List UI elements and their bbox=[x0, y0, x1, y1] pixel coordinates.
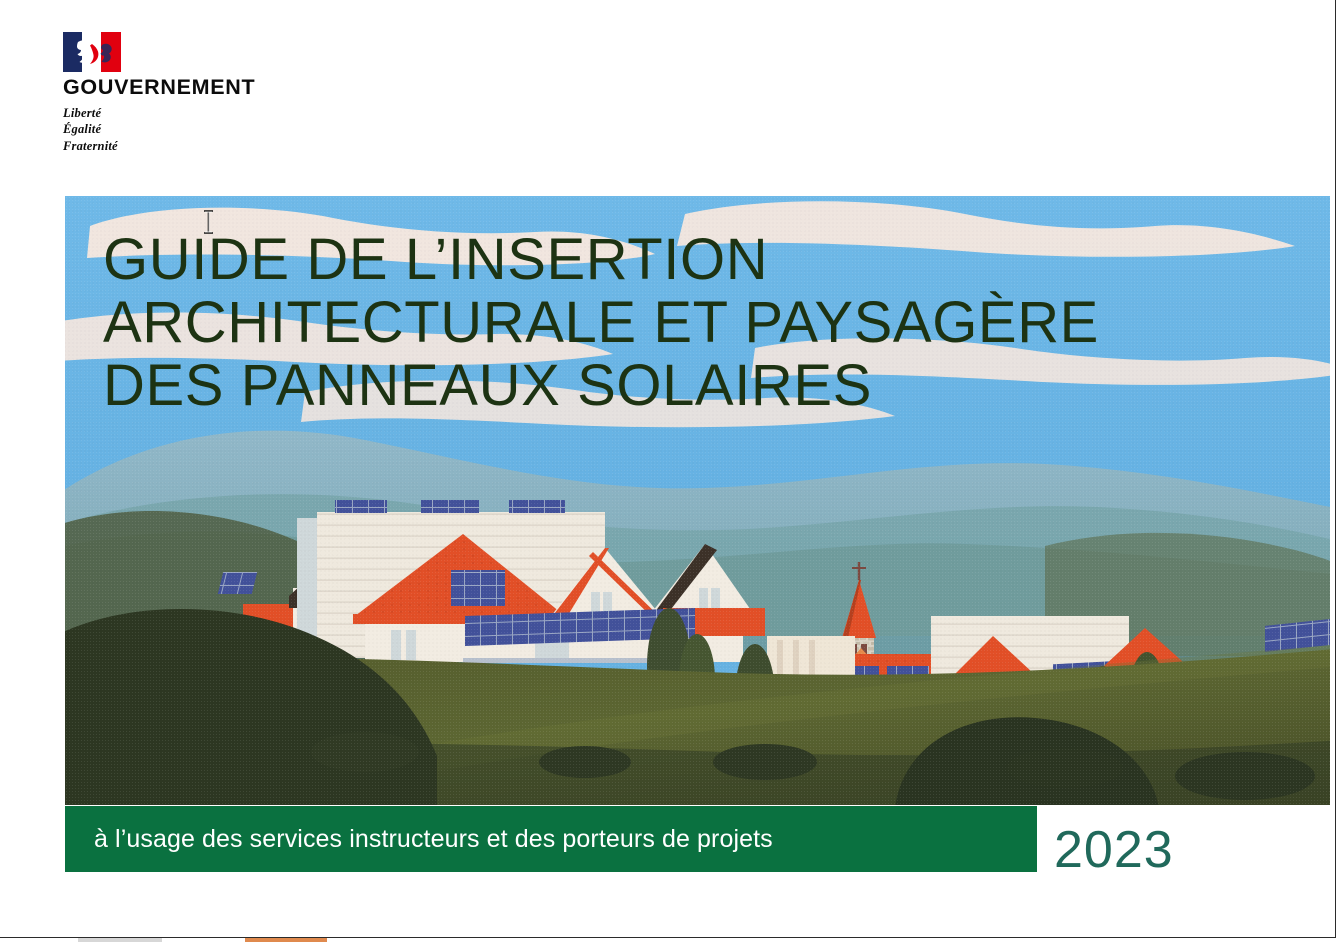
republic-motto: LibertéÉgalitéFraternité bbox=[63, 105, 343, 155]
page-title: GUIDE DE L’INSERTION ARCHITECTURALE ET P… bbox=[103, 228, 1223, 418]
gouvernement-wordmark: GOUVERNEMENT bbox=[63, 77, 343, 99]
strip-segment-grey bbox=[78, 938, 162, 942]
gouvernement-logo-block: GOUVERNEMENT LibertéÉgalitéFraternité bbox=[63, 32, 343, 154]
document-page: GOUVERNEMENT LibertéÉgalitéFraternité bbox=[0, 0, 1336, 938]
subtitle-text: à l’usage des services instructeurs et d… bbox=[65, 825, 773, 854]
publication-year: 2023 bbox=[1054, 824, 1174, 876]
marianne-flag-icon bbox=[63, 32, 121, 72]
strip-segment-orange bbox=[245, 938, 327, 942]
motto-line-fraternite: Fraternité bbox=[63, 139, 118, 153]
bottom-chrome-strip bbox=[0, 938, 1336, 945]
subtitle-banner: à l’usage des services instructeurs et d… bbox=[65, 806, 1037, 872]
motto-line-liberte: Liberté bbox=[63, 106, 101, 120]
motto-line-egalite: Égalité bbox=[63, 122, 101, 136]
